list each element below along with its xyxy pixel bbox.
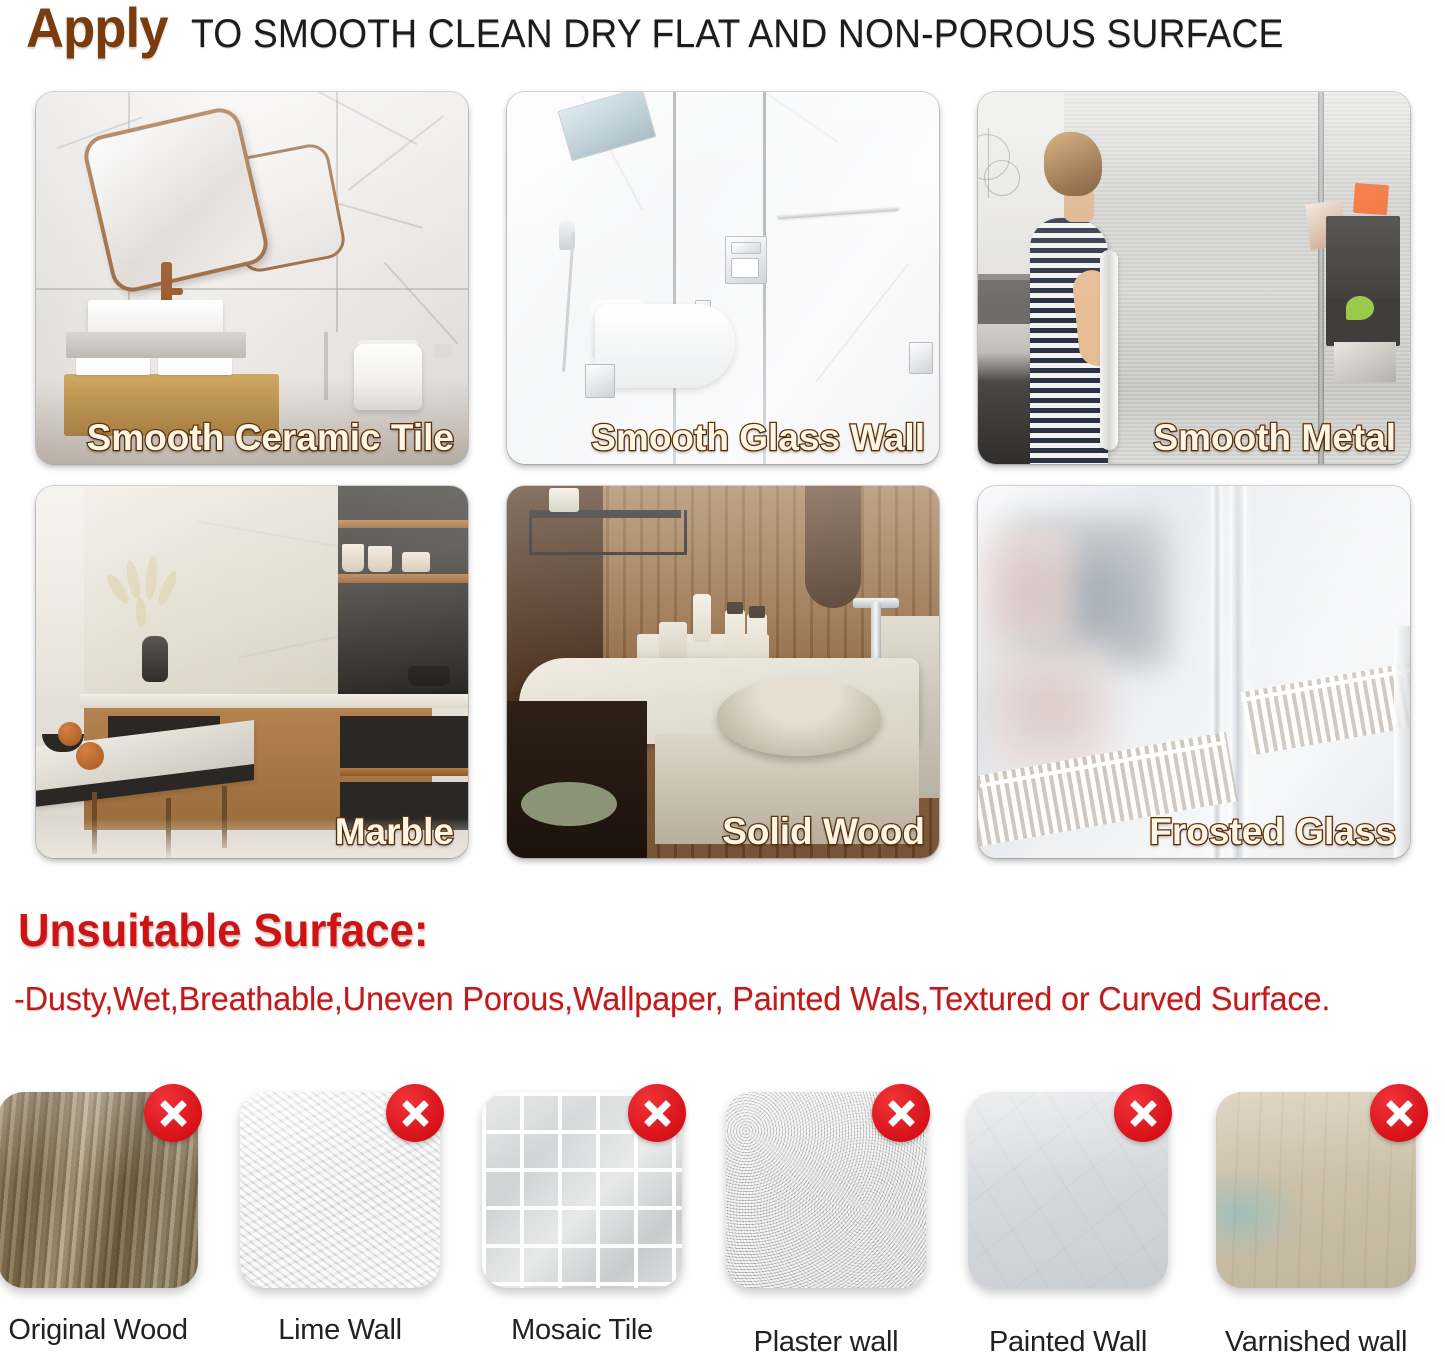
unsuitable-item-varnished-wall[interactable]: Varnished wall <box>1204 1092 1428 1288</box>
x-mark-icon <box>628 1084 686 1142</box>
page-header: Apply TO SMOOTH CLEAN DRY FLAT AND NON-P… <box>0 0 1445 72</box>
surface-card-frosted-glass[interactable]: Frosted Glass <box>978 486 1410 858</box>
surface-label-marble: Marble <box>335 811 454 854</box>
ceramic-tile-scene-art <box>36 92 468 464</box>
x-mark-icon <box>144 1084 202 1142</box>
unsuitable-surface-description: -Dusty,Wet,Breathable,Uneven Porous,Wall… <box>14 972 1421 1025</box>
unsuitable-caption-plaster-wall: Plaster wall <box>714 1326 938 1359</box>
vase <box>142 636 168 682</box>
unsuitable-item-mosaic-tile[interactable]: Mosaic Tile <box>470 1092 694 1288</box>
wall-mirror-primary <box>80 104 272 296</box>
unsuitable-surface-title: Unsuitable Surface: <box>18 903 428 957</box>
chalkboard-magnet <box>1326 216 1400 346</box>
vessel-basin <box>717 678 881 756</box>
surface-card-smooth-ceramic-tile[interactable]: Smooth Ceramic Tile <box>36 92 468 464</box>
x-mark-icon <box>872 1084 930 1142</box>
header-subtitle: TO SMOOTH CLEAN DRY FLAT AND NON-POROUS … <box>191 12 1284 57</box>
suitable-surface-grid: Smooth Ceramic Tile Smooth Glass Wall <box>36 92 1410 862</box>
unsuitable-surface-thumbnails: Original Wood Lime Wall Mosaic Tile Plas… <box>0 1092 1445 1360</box>
surface-card-smooth-glass-wall[interactable]: Smooth Glass Wall <box>507 92 939 464</box>
unsuitable-item-lime-wall[interactable]: Lime Wall <box>228 1092 452 1288</box>
frosted-glass-scene-art <box>978 486 1410 858</box>
basin <box>88 300 223 334</box>
x-mark-icon <box>1114 1084 1172 1142</box>
metal-fridge-scene-art <box>978 92 1410 464</box>
unsuitable-caption-mosaic-tile: Mosaic Tile <box>470 1314 694 1347</box>
solid-wood-scene-art <box>507 486 939 858</box>
surface-label-smooth-ceramic-tile: Smooth Ceramic Tile <box>87 417 454 460</box>
unsuitable-caption-painted-wall: Painted Wall <box>956 1326 1180 1359</box>
x-mark-icon <box>386 1084 444 1142</box>
round-mirror <box>805 486 861 608</box>
unsuitable-caption-varnished-wall: Varnished wall <box>1204 1326 1428 1359</box>
surface-label-frosted-glass: Frosted Glass <box>1149 811 1396 854</box>
surface-label-smooth-metal: Smooth Metal <box>1153 417 1396 460</box>
glass-wall-scene-art <box>507 92 939 464</box>
surface-card-smooth-metal[interactable]: Smooth Metal <box>978 92 1410 464</box>
header-emphasis-word: Apply <box>26 0 168 56</box>
marble-kitchen-scene-art <box>36 486 468 858</box>
surface-card-marble[interactable]: Marble <box>36 486 468 858</box>
person-head <box>1044 132 1102 196</box>
unsuitable-item-painted-wall[interactable]: Painted Wall <box>956 1092 1180 1288</box>
surface-label-solid-wood: Solid Wood <box>722 811 925 854</box>
film-roll-product <box>1100 250 1118 450</box>
x-mark-icon <box>1370 1084 1428 1142</box>
surface-label-smooth-glass-wall: Smooth Glass Wall <box>591 417 925 460</box>
unsuitable-caption-original-wood: Original Wood <box>0 1314 210 1347</box>
unsuitable-caption-lime-wall: Lime Wall <box>228 1314 452 1347</box>
soap-dispenser <box>693 594 711 642</box>
unsuitable-item-plaster-wall[interactable]: Plaster wall <box>714 1092 938 1288</box>
surface-card-solid-wood[interactable]: Solid Wood <box>507 486 939 858</box>
unsuitable-item-original-wood[interactable]: Original Wood <box>0 1092 210 1288</box>
